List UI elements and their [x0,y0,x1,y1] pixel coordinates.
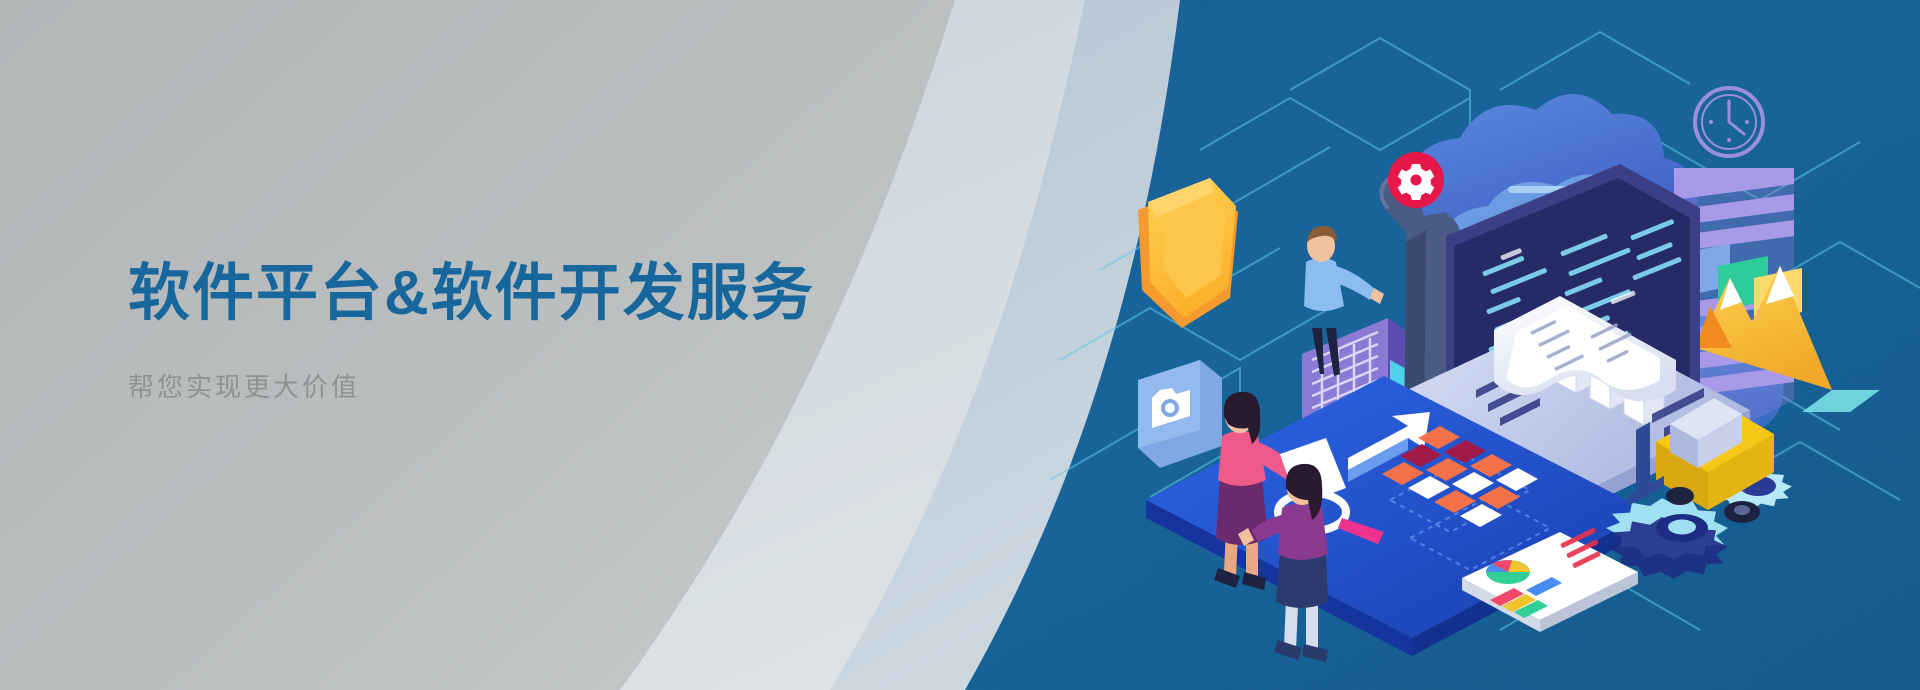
shield-icon [1138,178,1238,328]
hero-text-block: 软件平台&软件开发服务 帮您实现更大价值 [128,258,948,405]
gear-badge-icon [1388,152,1444,208]
camera-card-icon [1138,360,1222,468]
clock-icon [1695,88,1763,156]
hero-banner: 软件平台&软件开发服务 帮您实现更大价值 [0,0,1920,690]
isometric-illustration [1090,60,1920,690]
page-subtitle: 帮您实现更大价值 [128,371,948,405]
pie-chart-icon [1486,560,1530,584]
page-title: 软件平台&软件开发服务 [128,258,948,329]
